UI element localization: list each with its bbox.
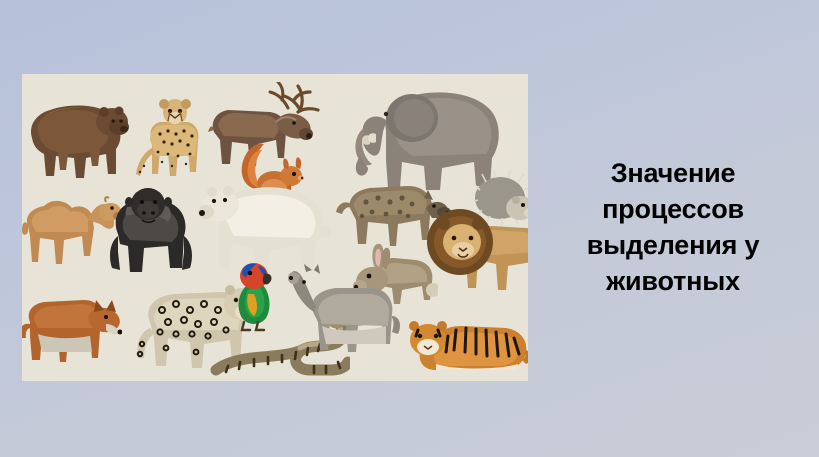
animals-collage-image bbox=[22, 74, 528, 381]
slide-canvas: Значение процессов выделения у животных bbox=[0, 0, 819, 457]
animal-brown-bear bbox=[24, 92, 132, 182]
slide-title: Значение процессов выделения у животных bbox=[548, 155, 798, 299]
title-line-4: животных bbox=[548, 263, 798, 299]
animal-tiger bbox=[402, 306, 528, 381]
animal-fox bbox=[22, 280, 122, 376]
title-line-1: Значение bbox=[548, 155, 798, 191]
title-line-3: выделения у bbox=[548, 227, 798, 263]
title-line-2: процессов bbox=[548, 191, 798, 227]
animal-wolf bbox=[282, 264, 402, 380]
animal-lion bbox=[426, 202, 528, 310]
